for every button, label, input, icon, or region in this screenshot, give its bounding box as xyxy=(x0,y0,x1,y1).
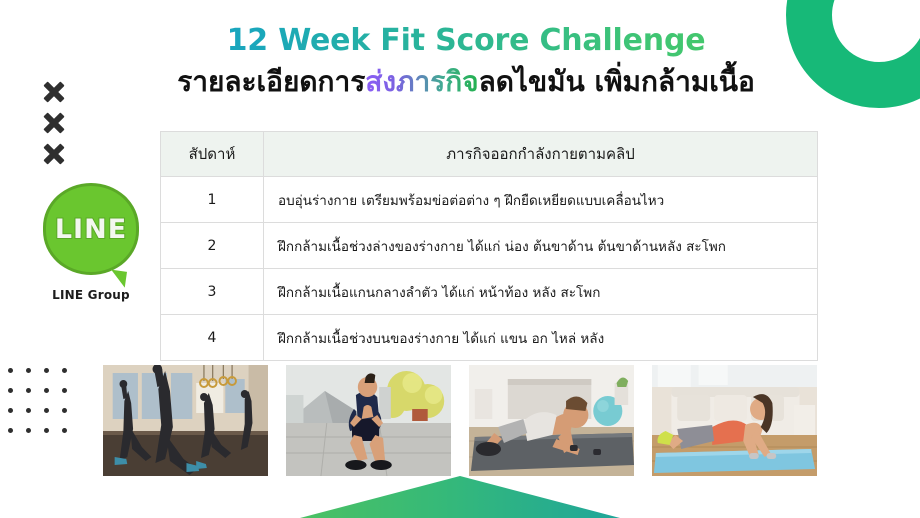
mission-table-wrapper: สัปดาห์ ภารกิจออกกำลังกายตามคลิป 1 อบอุ่… xyxy=(160,131,818,361)
mission-table: สัปดาห์ ภารกิจออกกำลังกายตามคลิป 1 อบอุ่… xyxy=(160,131,818,361)
table-header-row: สัปดาห์ ภารกิจออกกำลังกายตามคลิป xyxy=(161,132,818,177)
column-header-week: สัปดาห์ xyxy=(161,132,264,177)
cell-task: อบอุ่นร่างกาย เตรียมพร้อมข่อต่อต่าง ๆ ฝึ… xyxy=(264,177,818,223)
cell-week: 3 xyxy=(161,269,264,315)
table-row: 2 ฝึกกล้ามเนื้อช่วงล่างของร่างกาย ได้แก่… xyxy=(161,223,818,269)
triangle-decoration xyxy=(300,476,620,518)
photo-strip xyxy=(103,365,817,476)
table-body: 1 อบอุ่นร่างกาย เตรียมพร้อมข่อต่อต่าง ๆ … xyxy=(161,177,818,361)
subtitle-part-2: ลดไขมัน เพิ่มกล้ามเนื้อ xyxy=(479,65,755,98)
knee-pushup-photo xyxy=(652,365,817,476)
indoor-plank-photo xyxy=(469,365,634,476)
x-mark-icon xyxy=(42,111,66,135)
slide-header: 12 Week Fit Score Challenge รายละเอียดกา… xyxy=(96,24,836,98)
x-mark-icon xyxy=(42,142,66,166)
subtitle-part-1: รายละเอียดการ xyxy=(177,65,365,98)
cell-week: 1 xyxy=(161,177,264,223)
subtitle-highlight: ส่งภารกิจ xyxy=(365,65,478,98)
table-head: สัปดาห์ ภารกิจออกกำลังกายตามคลิป xyxy=(161,132,818,177)
x-mark-icon xyxy=(42,80,66,104)
cell-week: 2 xyxy=(161,223,264,269)
cell-task: ฝึกกล้ามเนื้อแกนกลางลำตัว ได้แก่ หน้าท้อ… xyxy=(264,269,818,315)
line-group-badge[interactable]: LINE LINE Group xyxy=(27,183,155,302)
line-logo-text: LINE xyxy=(43,183,139,275)
cell-task: ฝึกกล้ามเนื้อช่วงบนของร่างกาย ได้แก่ แขน… xyxy=(264,315,818,361)
x-marks-decoration xyxy=(42,80,66,166)
gym-group-stretch-photo xyxy=(103,365,268,476)
cell-week: 4 xyxy=(161,315,264,361)
dot-grid-decoration xyxy=(8,368,80,448)
cell-task: ฝึกกล้ามเนื้อช่วงล่างของร่างกาย ได้แก่ น… xyxy=(264,223,818,269)
slide-canvas: LINE LINE Group 12 Week Fit Score Challe… xyxy=(0,0,920,518)
page-title: 12 Week Fit Score Challenge xyxy=(96,24,836,59)
table-row: 3 ฝึกกล้ามเนื้อแกนกลางลำตัว ได้แก่ หน้าท… xyxy=(161,269,818,315)
outdoor-squat-photo xyxy=(286,365,451,476)
table-row: 1 อบอุ่นร่างกาย เตรียมพร้อมข่อต่อต่าง ๆ … xyxy=(161,177,818,223)
column-header-task: ภารกิจออกกำลังกายตามคลิป xyxy=(264,132,818,177)
table-row: 4 ฝึกกล้ามเนื้อช่วงบนของร่างกาย ได้แก่ แ… xyxy=(161,315,818,361)
page-subtitle: รายละเอียดการส่งภารกิจลดไขมัน เพิ่มกล้าม… xyxy=(96,65,836,99)
line-logo-icon: LINE xyxy=(43,183,139,275)
line-group-label: LINE Group xyxy=(27,288,155,302)
